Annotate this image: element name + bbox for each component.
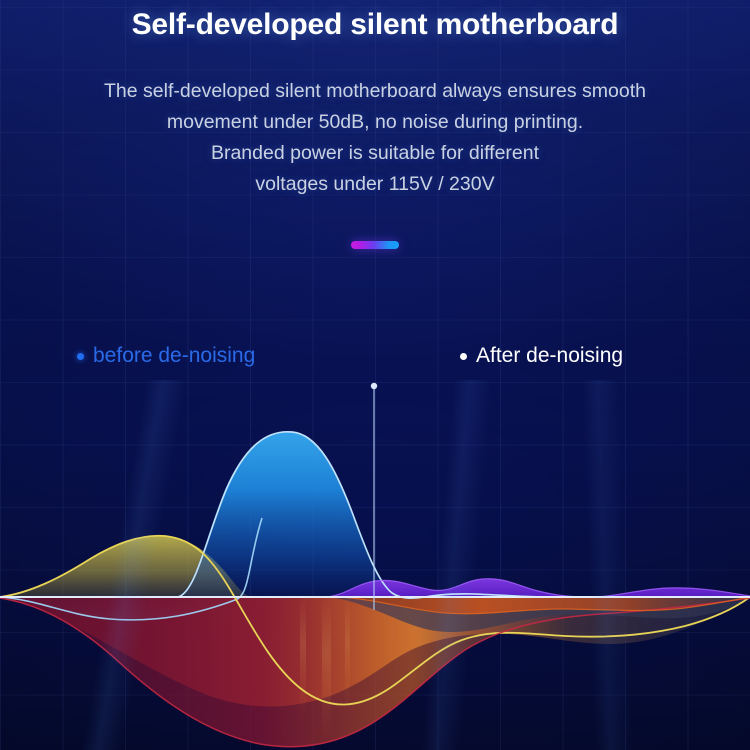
waveform-chart [0, 378, 750, 750]
promo-page: Self-developed silent motherboard The se… [0, 0, 750, 750]
legend-dot-icon [460, 353, 467, 360]
wave-blue-positive-area [175, 432, 410, 598]
light-streak [322, 597, 331, 737]
subtitle-line-2: movement under 50dB, no noise during pri… [0, 107, 750, 138]
legend-after-label: After de-noising [476, 344, 623, 368]
page-title: Self-developed silent motherboard [0, 8, 750, 42]
split-marker-dot [371, 383, 377, 389]
subtitle-line-4: voltages under 115V / 230V [0, 169, 750, 200]
subtitle-line-3: Branded power is suitable for different [0, 138, 750, 169]
light-streak [300, 597, 306, 717]
gradient-divider [351, 241, 399, 249]
subtitle-line-1: The self-developed silent motherboard al… [0, 76, 750, 107]
legend-before-label: before de-noising [93, 344, 255, 368]
legend-dot-icon [77, 353, 84, 360]
waveform-svg [0, 378, 750, 750]
legend-after-denoising: After de-noising [460, 344, 623, 368]
light-streak [345, 597, 350, 707]
page-subtitle: The self-developed silent motherboard al… [0, 76, 750, 200]
legend-before-denoising: before de-noising [77, 344, 255, 368]
